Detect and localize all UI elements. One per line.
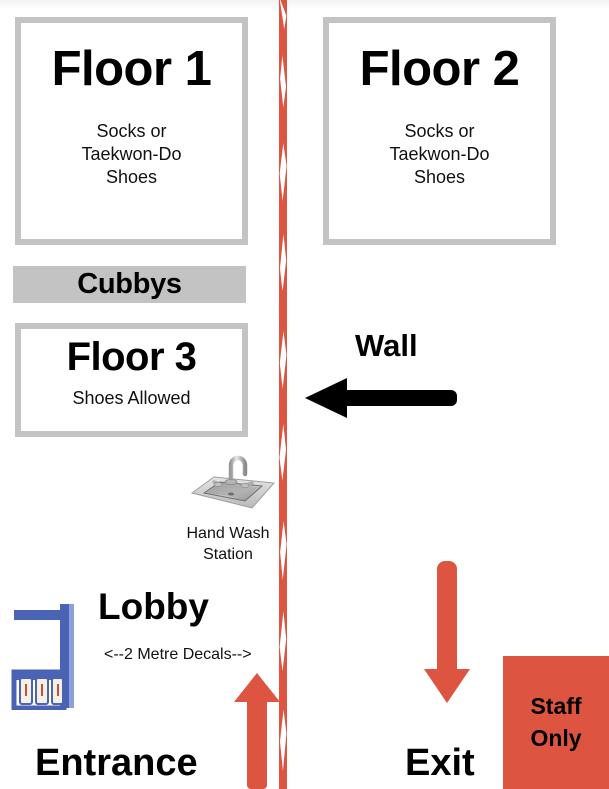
sink-icon bbox=[173, 453, 283, 520]
wall-label: Wall bbox=[355, 328, 418, 364]
room-box-floor-3: Floor 3 Shoes Allowed bbox=[15, 323, 248, 437]
staff-only-line2: Only bbox=[530, 723, 581, 754]
room-subtitle-line: Shoes bbox=[81, 166, 181, 189]
two-metre-decals-label: <--2 Metre Decals--> bbox=[104, 646, 252, 664]
entrance-label: Entrance bbox=[35, 742, 198, 785]
lobby-label: Lobby bbox=[98, 586, 209, 628]
room-subtitle-line: Shoes Allowed bbox=[72, 387, 190, 410]
arrow-up-icon bbox=[233, 673, 281, 789]
arrow-left-icon bbox=[305, 378, 457, 418]
handwash-label-line1: Hand Wash bbox=[173, 524, 283, 545]
room-subtitle-line: Socks or bbox=[81, 120, 181, 143]
exit-label: Exit bbox=[405, 742, 475, 785]
room-subtitle-floor-2: Socks or Taekwon-Do Shoes bbox=[389, 120, 489, 189]
room-subtitle-floor-3: Shoes Allowed bbox=[72, 387, 190, 410]
handwash-label-line2: Station bbox=[173, 545, 283, 566]
handwash-station-group: Hand Wash Station bbox=[173, 453, 283, 566]
staff-only-line1: Staff bbox=[530, 691, 581, 722]
floor-plan-canvas: Floor 1 Socks or Taekwon-Do Shoes Floor … bbox=[0, 0, 609, 789]
sanitizer-shelf-icon bbox=[10, 598, 78, 715]
cubbys-bar: Cubbys bbox=[13, 266, 246, 303]
room-subtitle-line: Taekwon-Do bbox=[389, 143, 489, 166]
arrow-down-icon bbox=[423, 561, 471, 703]
room-subtitle-line: Shoes bbox=[389, 166, 489, 189]
room-title-floor-1: Floor 1 bbox=[52, 45, 212, 94]
room-box-floor-1: Floor 1 Socks or Taekwon-Do Shoes bbox=[15, 17, 248, 245]
handwash-station-label: Hand Wash Station bbox=[173, 524, 283, 566]
room-title-floor-2: Floor 2 bbox=[360, 45, 520, 94]
room-subtitle-line: Socks or bbox=[389, 120, 489, 143]
room-box-floor-2: Floor 2 Socks or Taekwon-Do Shoes bbox=[323, 17, 556, 245]
room-subtitle-line: Taekwon-Do bbox=[81, 143, 181, 166]
top-sheen-decoration bbox=[0, 0, 609, 10]
cubbys-label: Cubbys bbox=[77, 268, 182, 301]
staff-only-zone: Staff Only bbox=[503, 656, 609, 789]
room-title-floor-3: Floor 3 bbox=[67, 337, 197, 377]
room-subtitle-floor-1: Socks or Taekwon-Do Shoes bbox=[81, 120, 181, 189]
